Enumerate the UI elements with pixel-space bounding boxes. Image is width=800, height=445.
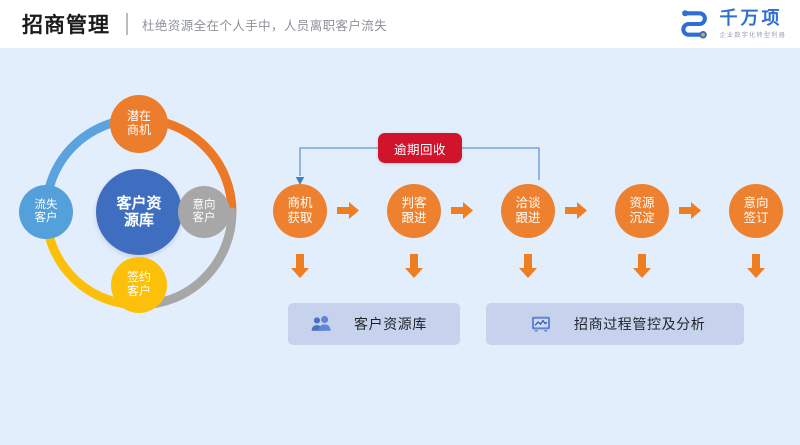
logo-text: 千万项 企业数字化转型利器 [720, 9, 787, 39]
flow-step-label: 商机获取 [287, 196, 312, 226]
flow-down-arrow-3 [519, 254, 537, 278]
overdue-recycle-badge[interactable]: 逾期回收 [378, 133, 462, 163]
wheel-center-node[interactable]: 客户资源库 [96, 169, 182, 255]
wheel-node-potential-opportunity[interactable]: 潜在商机 [110, 95, 168, 153]
users-icon [310, 315, 332, 333]
flow-down-arrow-group [291, 254, 765, 278]
flow-arrow-4 [679, 202, 701, 219]
bottom-panels: 客户资源库 招商过程管控及分析 [288, 303, 744, 345]
wheel-node-label: 流失客户 [35, 199, 58, 225]
wheel-node-intent-customer[interactable]: 意向客户 [178, 186, 230, 238]
wheel-node-label: 签约客户 [127, 271, 151, 299]
wheel-node-churned-customer[interactable]: 流失客户 [19, 185, 73, 239]
flow-step-label: 判客跟进 [401, 196, 426, 226]
flow-arrow-2 [451, 202, 473, 219]
flow-step-label: 洽谈跟进 [515, 196, 540, 226]
flow-step-resource-settle[interactable]: 资源沉淀 [615, 184, 669, 238]
logo-name: 千万项 [720, 9, 787, 28]
customer-resource-wheel: 客户资源库 潜在商机 意向客户 签约客户 流失客户 [14, 92, 264, 332]
wheel-node-label: 潜在商机 [127, 110, 151, 138]
flow-down-arrow-4 [633, 254, 651, 278]
logo-tagline: 企业数字化转型利器 [720, 30, 787, 39]
page-header: 招商管理 杜绝资源全在个人手中，人员离职客户流失 千万项 企业数字化转型利器 [0, 0, 800, 48]
wheel-node-signed-customer[interactable]: 签约客户 [111, 257, 167, 313]
panel-label: 客户资源库 [354, 314, 427, 334]
overdue-recycle-label: 逾期回收 [394, 139, 446, 158]
flow-step-label: 资源沉淀 [629, 196, 654, 226]
page-subtitle: 杜绝资源全在个人手中，人员离职客户流失 [142, 15, 387, 34]
brand-logo: 千万项 企业数字化转型利器 [677, 7, 787, 41]
flow-step-lead-qualify[interactable]: 判客跟进 [387, 184, 441, 238]
flow-step-opportunity-acquire[interactable]: 商机获取 [273, 184, 327, 238]
flow-arrow-1 [337, 202, 359, 219]
wheel-center-label-line1: 客户资源库 [116, 195, 161, 230]
flow-down-arrow-2 [405, 254, 423, 278]
flow-down-arrow-5 [747, 254, 765, 278]
flow-step-negotiation-followup[interactable]: 洽谈跟进 [501, 184, 555, 238]
panel-investment-process-analytics[interactable]: 招商过程管控及分析 [486, 303, 744, 345]
panel-label: 招商过程管控及分析 [574, 314, 705, 334]
flow-arrow-3 [565, 202, 587, 219]
flow-step-label: 意向签订 [743, 196, 768, 226]
wheel-node-label: 意向客户 [193, 199, 216, 225]
flow-down-arrow-1 [291, 254, 309, 278]
recycle-connector-left [300, 148, 378, 176]
header-divider [126, 13, 128, 35]
monitor-chart-icon [530, 315, 552, 333]
recycle-connector-right [462, 148, 539, 180]
panel-customer-resource-library[interactable]: 客户资源库 [288, 303, 460, 345]
page-title: 招商管理 [22, 9, 110, 39]
flow-logo-icon [677, 7, 713, 41]
flow-step-intent-sign[interactable]: 意向签订 [729, 184, 783, 238]
